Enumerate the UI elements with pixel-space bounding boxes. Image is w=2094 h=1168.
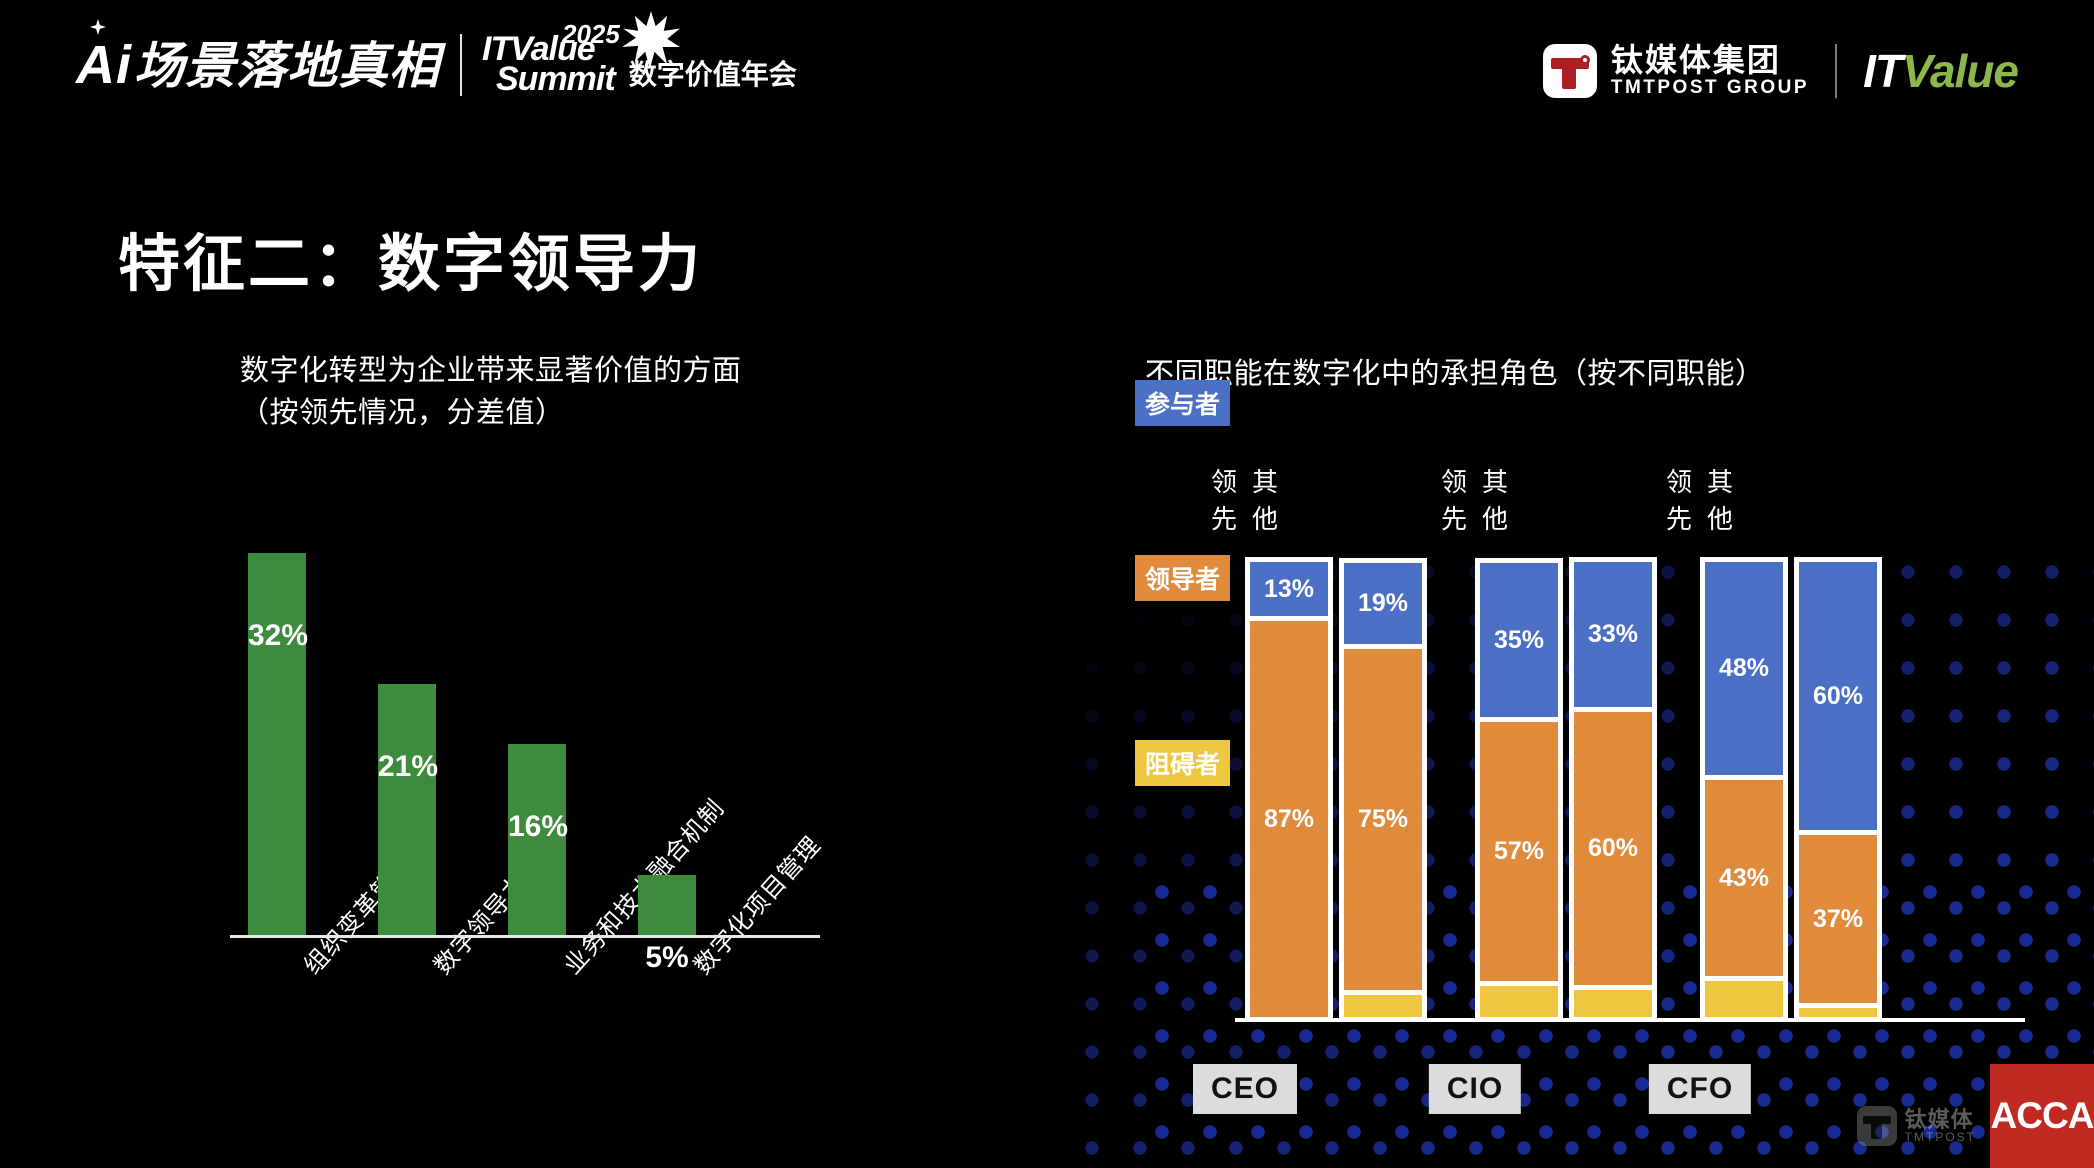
watermark-name-cn: 钛媒体: [1905, 1108, 1976, 1131]
bar-value-label: 21%: [378, 750, 436, 784]
summit-subtitle-cn: 数字价值年会: [629, 53, 797, 95]
event-title-cn: Ai场景落地真相: [76, 38, 440, 92]
header-divider: [460, 34, 462, 96]
bar-segment-阻碍者: [1574, 985, 1652, 1017]
group-label: CFO: [1649, 1064, 1751, 1114]
left-subtitle-line2: （按领先情况，分差值）: [240, 392, 840, 434]
tmtpost-watermark-icon: [1857, 1106, 1897, 1146]
bar-segment-参与者: 13%: [1250, 562, 1328, 621]
stacked-bar: 19%75%: [1339, 558, 1427, 1022]
x-axis-label: 数字化项目管理: [684, 827, 827, 980]
bar-segment-参与者: 19%: [1344, 563, 1422, 649]
column-header: 领先: [1211, 462, 1238, 536]
summit-year: 2025: [562, 19, 620, 50]
column-header: 其他: [1482, 462, 1509, 536]
bar-pair: 35%57%33%60%: [1475, 557, 1657, 1022]
stacked-bar: 33%60%: [1569, 557, 1657, 1022]
right-chart-subtitle: 不同职能在数字化中的承担角色（按不同职能）: [1145, 350, 2045, 392]
stacked-bar: 48%43%: [1700, 557, 1788, 1022]
bar-segment-参与者: 33%: [1574, 562, 1652, 712]
legend-badge-领导者: 领导者: [1135, 555, 1230, 601]
bar: [638, 875, 696, 935]
bar: [378, 684, 436, 935]
bar-segment-阻碍者: [1705, 976, 1783, 1017]
bar-segment-阻碍者: [1799, 1003, 1877, 1017]
legend-badge-参与者: 参与者: [1135, 380, 1230, 426]
bar-group: 5%: [638, 505, 696, 935]
slide-header: Ai场景落地真相 ITValue Summit 2025 数字价值年会 钛媒体集…: [0, 0, 2094, 130]
bar-pair: 13%87%19%75%: [1245, 557, 1427, 1022]
stacked-bar: 13%87%: [1245, 557, 1333, 1022]
tmtpost-name-en: TMTPOST GROUP: [1611, 78, 1809, 98]
page-title: 特征二：数字领导力: [118, 213, 703, 303]
bar-value-label: 32%: [248, 619, 306, 653]
bar-segment-领导者: 75%: [1344, 649, 1422, 990]
left-chart-subtitle: 数字化转型为企业带来显著价值的方面 （按领先情况，分差值）: [240, 350, 840, 434]
acca-badge: ACCA: [1990, 1064, 2094, 1168]
itvalue-logo: ITValue: [1863, 44, 2018, 98]
bar-segment-领导者: 87%: [1250, 621, 1328, 1017]
acca-label: ACCA: [1991, 1095, 2094, 1137]
bar-segment-领导者: 37%: [1799, 835, 1877, 1003]
bar-value-label: 16%: [508, 810, 566, 844]
right-chart-baseline: [1235, 1018, 2025, 1022]
bar-group: 21%: [378, 505, 436, 935]
bar-group: 16%: [508, 505, 566, 935]
stacked-bar: 35%57%: [1475, 558, 1563, 1022]
summit-line2: Summit: [496, 65, 615, 95]
column-header: 领先: [1666, 462, 1693, 536]
bar: [248, 553, 306, 935]
left-subtitle-line1: 数字化转型为企业带来显著价值的方面: [240, 350, 840, 392]
column-header: 其他: [1252, 462, 1279, 536]
itvalue-summit-logo: ITValue Summit 2025 数字价值年会: [482, 35, 797, 95]
bar-pair: 48%43%60%37%: [1700, 557, 1882, 1022]
tmtpost-logo-icon: [1543, 44, 1597, 98]
legend-badge-阻碍者: 阻碍者: [1135, 740, 1230, 786]
column-header: 其他: [1707, 462, 1734, 536]
stacked-bar: 60%37%: [1794, 557, 1882, 1022]
bar-segment-领导者: 57%: [1480, 722, 1558, 981]
event-brand-left: Ai场景落地真相 ITValue Summit 2025 数字价值年会: [76, 34, 797, 96]
sponsor-logos: 钛媒体集团 TMTPOST GROUP ITValue: [1543, 44, 2018, 98]
bar-group: 32%: [248, 505, 306, 935]
left-chart-panel: 数字化转型为企业带来显著价值的方面 （按领先情况，分差值） 32%组织变革管理2…: [240, 350, 840, 1130]
group-label: CEO: [1193, 1064, 1297, 1114]
group-label: CIO: [1429, 1064, 1521, 1114]
bar-segment-参与者: 48%: [1705, 562, 1783, 780]
bar-segment-阻碍者: [1480, 981, 1558, 1017]
left-bar-chart: 32%组织变革管理21%数字领导力16%业务和技术融合机制5%数字化项目管理: [230, 505, 820, 935]
tmtpost-dot-icon: [1580, 55, 1590, 65]
sparkle-icon: [90, 19, 106, 35]
tmtpost-wordmark: 钛媒体集团 TMTPOST GROUP: [1611, 44, 1809, 98]
right-chart-panel: 不同职能在数字化中的承担角色（按不同职能） 参与者领导者阻碍者 领先其他13%8…: [1145, 350, 2045, 1140]
bar-segment-参与者: 60%: [1799, 562, 1877, 835]
tmtpost-watermark: 钛媒体 TMTPOST: [1857, 1106, 1976, 1146]
column-header: 领先: [1441, 462, 1468, 536]
ai-wordmark: Ai: [76, 35, 132, 95]
bar-segment-领导者: 43%: [1705, 780, 1783, 976]
tmtpost-name-cn: 钛媒体集团: [1611, 44, 1809, 78]
watermark-name-en: TMTPOST: [1905, 1131, 1976, 1144]
bar-segment-阻碍者: [1344, 990, 1422, 1017]
bar-segment-参与者: 35%: [1480, 563, 1558, 722]
sponsor-divider: [1835, 44, 1837, 98]
left-chart-axis: [230, 935, 820, 938]
bar-segment-领导者: 60%: [1574, 712, 1652, 985]
